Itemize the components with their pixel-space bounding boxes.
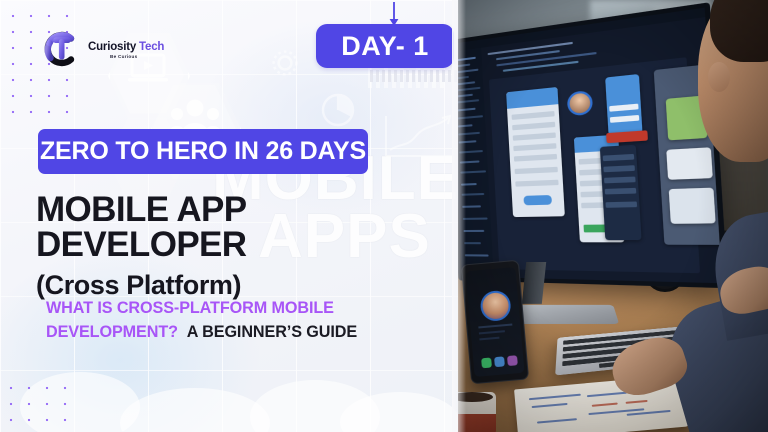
computer-monitor <box>458 2 728 288</box>
developer-workspace-photo <box>458 0 768 432</box>
day-badge-label: DAY- 1 <box>341 31 429 62</box>
brand-name-primary: Curiosity <box>88 41 136 53</box>
gear-icon <box>268 46 302 80</box>
course-promo-banner: MOBILE APPS <box>0 0 768 432</box>
curiosity-tech-c-logo-icon <box>40 28 82 70</box>
app-icon <box>481 357 492 368</box>
brand-logo[interactable]: Curiosity Tech Be Curious <box>40 28 164 70</box>
headline-primary: MOBILE APP DEVELOPER <box>36 192 456 262</box>
avatar <box>479 290 512 323</box>
avatar <box>567 90 594 116</box>
headline-secondary: (Cross Platform) <box>36 272 456 299</box>
app-icon <box>507 355 518 366</box>
brand-name-secondary: Tech <box>139 41 164 53</box>
app-mockup-dark <box>600 145 642 240</box>
barcode-decoration <box>370 70 458 82</box>
app-mockup <box>605 74 642 135</box>
day-badge[interactable]: DAY- 1 <box>316 24 454 68</box>
left-content-panel: MOBILE APPS <box>0 0 458 432</box>
dot-grid-pattern <box>2 380 80 432</box>
subheadline-block: WHAT IS CROSS-PLATFORM MOBILE DEVELOPMEN… <box>46 297 446 344</box>
brand-logo-text: Curiosity Tech Be Curious <box>88 38 164 60</box>
headline-block: MOBILE APP DEVELOPER (Cross Platform) <box>36 192 456 299</box>
app-mockup <box>506 87 565 217</box>
smartphone <box>461 260 529 385</box>
ide-screen <box>458 8 722 284</box>
course-duration-label: ZERO TO HERO IN 26 DAYS <box>40 137 366 166</box>
panel-photo-seam <box>452 0 466 432</box>
subheadline-suffix: A BEGINNER’S GUIDE <box>187 323 357 341</box>
app-icon <box>494 356 505 367</box>
app-mockup-banner <box>606 130 648 143</box>
ide-design-canvas <box>489 57 700 273</box>
developer-ear <box>708 62 730 92</box>
brand-tagline: Be Curious <box>110 55 164 60</box>
smartphone-screen <box>465 267 524 377</box>
line-graph-icon <box>382 110 456 162</box>
course-duration-pill[interactable]: ZERO TO HERO IN 26 DAYS <box>38 129 368 174</box>
pie-chart-icon <box>318 90 358 130</box>
